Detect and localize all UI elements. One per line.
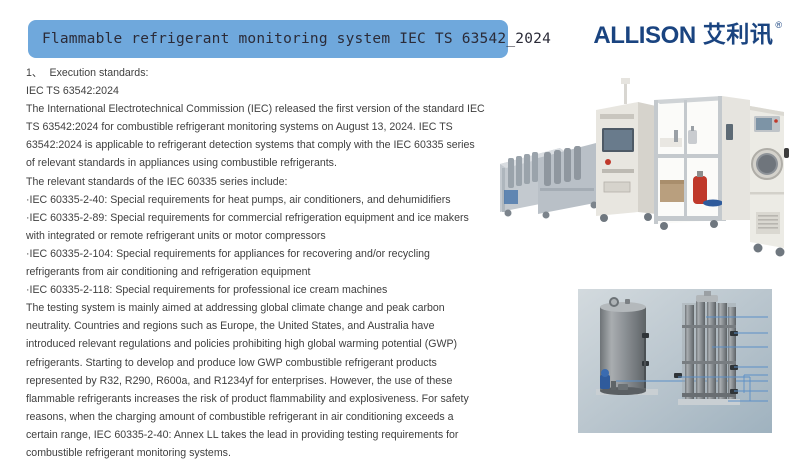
standard-code: IEC TS 63542:2024 [26, 82, 486, 100]
list-intro: The relevant standards of the IEC 60335 … [26, 173, 486, 191]
standard-item: ·IEC 60335-2-118: Special requirements f… [26, 281, 486, 299]
vessels-photo [578, 289, 772, 433]
brand-logo: ALLISON 艾利讯 ® [593, 24, 782, 48]
vessels-illustration [578, 289, 772, 433]
testing-system-illustration [488, 72, 794, 270]
standard-item-text: IEC 60335-2-89: Special requirements for… [26, 212, 469, 242]
article-body: 1、Execution standards: IEC TS 63542:2024… [26, 64, 486, 462]
registered-trademark-icon: ® [775, 21, 782, 30]
standard-item: ·IEC 60335-2-40: Special requirements fo… [26, 191, 486, 209]
standard-item-text: IEC 60335-2-118: Special requirements fo… [30, 284, 388, 296]
standard-item-text: IEC 60335-2-40: Special requirements for… [30, 194, 451, 206]
page-title-banner: Flammable refrigerant monitoring system … [28, 20, 508, 58]
testing-system-photo [488, 72, 794, 270]
logo-text-english: ALLISON [593, 24, 696, 48]
standard-item: ·IEC 60335-2-104: Special requirements f… [26, 245, 486, 281]
section-heading-text: Execution standards: [50, 67, 149, 79]
page-title: Flammable refrigerant monitoring system … [28, 31, 551, 47]
paragraph-intro: The International Electrotechnical Commi… [26, 100, 486, 172]
standard-item-text: IEC 60335-2-104: Special requirements fo… [26, 248, 430, 278]
section-heading-number: 1、 [26, 67, 43, 79]
logo-text-chinese: 艾利讯 [703, 24, 774, 47]
standard-item: ·IEC 60335-2-89: Special requirements fo… [26, 209, 486, 245]
section-heading: 1、Execution standards: [26, 64, 486, 82]
paragraph-purpose: The testing system is mainly aimed at ad… [26, 299, 486, 462]
